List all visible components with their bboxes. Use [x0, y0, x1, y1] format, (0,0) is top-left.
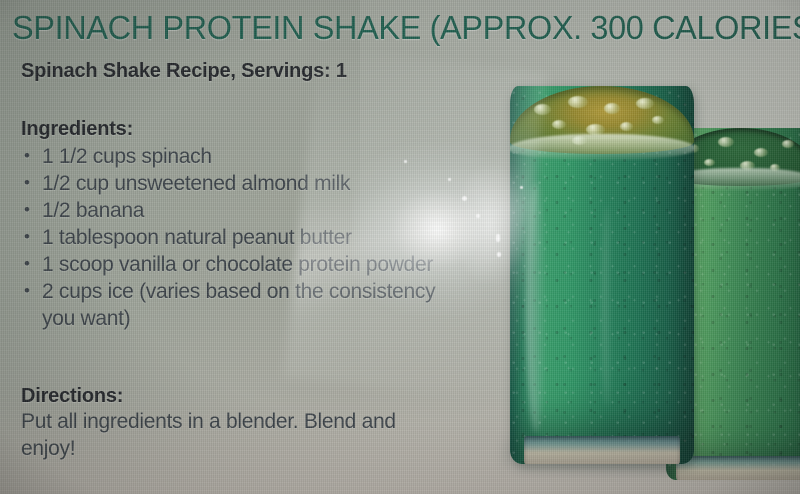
list-item: 1/2 banana [21, 197, 461, 224]
ingredients-list: 1 1/2 cups spinach 1/2 cup unsweetened a… [21, 143, 461, 332]
ingredients-heading: Ingredients: [21, 118, 133, 141]
list-item: 1 1/2 cups spinach [21, 143, 461, 170]
list-item: 1/2 cup unsweetened almond milk [21, 170, 461, 197]
list-item: 1 tablespoon natural peanut butter [21, 224, 461, 251]
page-title: SPINACH PROTEIN SHAKE (APPROX. 300 CALOR… [12, 8, 784, 48]
recipe-subtitle: Spinach Shake Recipe, Servings: 1 [21, 60, 347, 83]
list-item: 2 cups ice (varies based on the consiste… [21, 278, 461, 332]
recipe-text-layer: SPINACH PROTEIN SHAKE (APPROX. 300 CALOR… [0, 0, 800, 494]
directions-heading: Directions: [21, 385, 123, 408]
directions-body: Put all ingredients in a blender. Blend … [21, 408, 451, 462]
list-item: 1 scoop vanilla or chocolate protein pow… [21, 251, 461, 278]
recipe-slide: SPINACH PROTEIN SHAKE (APPROX. 300 CALOR… [0, 0, 800, 494]
